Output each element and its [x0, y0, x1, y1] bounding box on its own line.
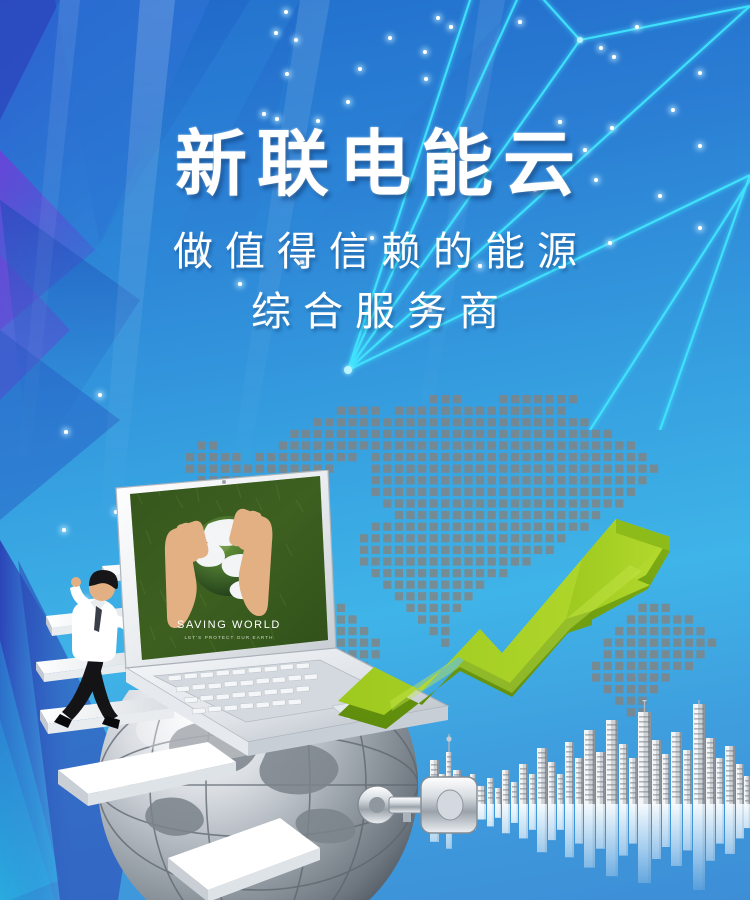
star-dot: [262, 112, 266, 116]
star-dot: [423, 50, 427, 54]
star-dot: [449, 25, 452, 28]
star-dot: [62, 528, 66, 532]
star-dot: [274, 31, 278, 35]
star-dot: [436, 16, 440, 20]
star-dot: [300, 260, 303, 263]
star-dot: [533, 188, 536, 191]
star-dot: [346, 100, 350, 104]
star-dot: [612, 55, 615, 58]
star-dot: [316, 119, 320, 123]
laptop-screen-caption: SAVING WORLD: [177, 619, 281, 631]
star-dot: [599, 46, 603, 50]
star-dot: [658, 194, 662, 198]
promotional-poster: 新联电能云 做值得信赖的能源 综合服务商: [0, 0, 750, 900]
laptop-screen-subcaption: LET'S PROTECT OUR EARTH: [184, 635, 273, 640]
star-dot: [518, 20, 522, 24]
star-dot: [275, 117, 279, 121]
star-dot: [671, 108, 675, 112]
star-dot: [698, 71, 702, 75]
star-dot: [64, 430, 68, 434]
star-dot: [200, 256, 203, 259]
star-dot: [428, 308, 431, 311]
star-dot: [583, 148, 587, 152]
star-dot: [358, 67, 362, 71]
star-dot: [594, 178, 598, 182]
star-dot: [478, 264, 481, 267]
star-dot: [285, 72, 289, 76]
star-dot: [698, 226, 702, 230]
star-dot: [388, 36, 392, 40]
star-dot: [284, 10, 288, 14]
star-dot: [610, 126, 614, 130]
growth-arrow-icon: [330, 515, 690, 745]
star-dot: [424, 77, 428, 81]
star-dot: [635, 25, 639, 29]
key-icon: [355, 755, 485, 855]
star-dot: [294, 38, 298, 42]
star-dot: [238, 282, 241, 285]
star-dot: [698, 144, 702, 148]
star-dot: [558, 120, 561, 123]
star-dot: [370, 236, 373, 239]
star-dot: [608, 241, 611, 244]
